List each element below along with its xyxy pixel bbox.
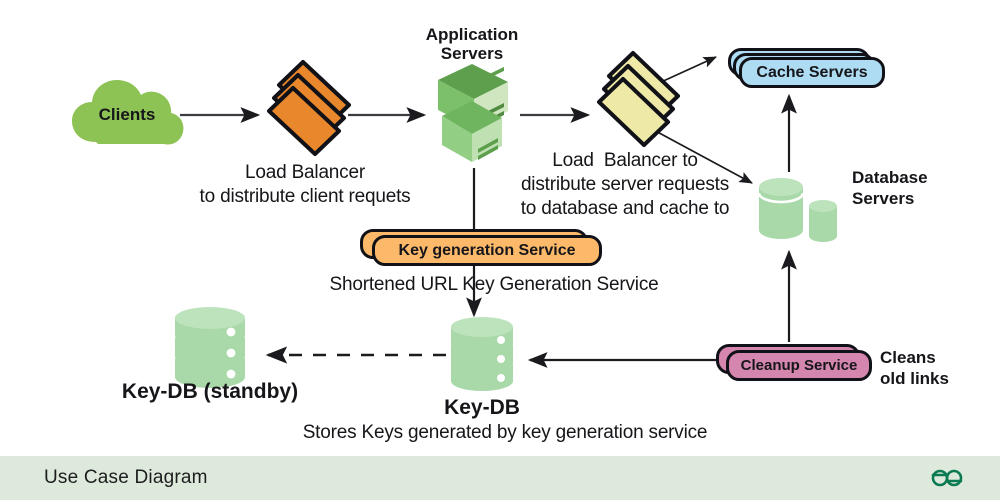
footer-title: Use Case Diagram <box>44 467 208 489</box>
load-balancer-1-caption-line2: to distribute client requets <box>200 186 411 208</box>
load-balancer-1-caption-line1: Load Balancer <box>245 162 365 184</box>
cleanup-service-label: Cleanup Service <box>741 357 858 374</box>
node-load-balancer-2[interactable] <box>583 48 688 160</box>
node-cleanup-service[interactable]: Cleanup Service <box>716 344 876 382</box>
database-servers-label-line1: Database <box>852 168 928 188</box>
app-servers-label-line2: Servers <box>441 44 503 64</box>
node-database-servers[interactable] <box>756 168 842 246</box>
node-load-balancer-1[interactable] <box>255 58 360 168</box>
diamond-stack-icon <box>255 58 360 168</box>
cache-servers-label: Cache Servers <box>756 64 867 82</box>
node-key-db[interactable] <box>448 313 516 395</box>
cleanup-service-front-layer: Cleanup Service <box>726 350 872 381</box>
load-balancer-2-caption-line3: to database and cache to <box>521 198 730 220</box>
load-balancer-2-caption-line1: Load Balancer to <box>552 150 698 172</box>
node-clients[interactable]: Clients <box>68 72 186 154</box>
key-generation-service-front-layer: Key generation Service <box>372 235 602 266</box>
cleanup-caption-line2: old links <box>880 369 949 389</box>
cylinder-pair-icon <box>756 168 842 246</box>
key-gen-caption: Shortened URL Key Generation Service <box>329 274 658 296</box>
cache-servers-front-layer: Cache Servers <box>739 57 885 88</box>
footer-bar: Use Case Diagram <box>0 456 1000 500</box>
cleanup-caption-line1: Cleans <box>880 348 936 368</box>
app-servers-label-line1: Application <box>426 25 519 45</box>
node-cache-servers[interactable]: Cache Servers <box>728 48 886 90</box>
server-isometric-icon <box>428 62 520 168</box>
database-servers-label-line2: Servers <box>852 189 914 209</box>
key-db-standby-label: Key-DB (standby) <box>122 380 298 405</box>
node-app-servers[interactable] <box>428 62 520 168</box>
geeksforgeeks-logo-icon[interactable] <box>930 467 964 489</box>
clients-label: Clients <box>68 72 186 154</box>
key-db-label: Key-DB <box>444 396 520 421</box>
disk-stack-icon <box>448 313 516 395</box>
node-key-generation-service[interactable]: Key generation Service <box>360 229 606 267</box>
key-generation-service-label: Key generation Service <box>399 242 576 260</box>
key-db-caption: Stores Keys generated by key generation … <box>303 422 708 444</box>
load-balancer-2-caption-line2: distribute server requests <box>521 174 729 196</box>
diamond-stack-icon <box>583 48 688 160</box>
